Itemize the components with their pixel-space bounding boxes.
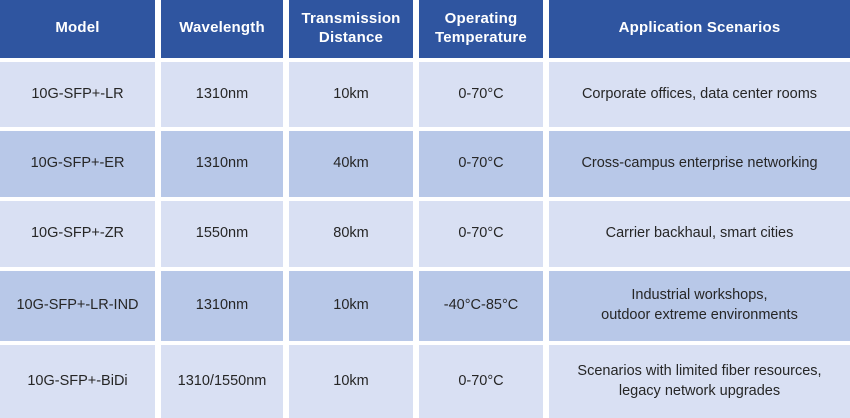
table-row: 10G-SFP+-LR-IND 1310nm 10km -40°C-85°C I… xyxy=(0,271,850,342)
cell-value: 0-70°C xyxy=(425,224,537,244)
cell-value: Carrier backhaul, smart cities xyxy=(555,224,844,244)
cell-application-scenarios: Scenarios with limited fiber resources, … xyxy=(549,345,850,418)
cell-application-scenarios: Industrial workshops, outdoor extreme en… xyxy=(549,271,850,342)
cell-transmission-distance: 10km xyxy=(289,271,413,342)
cell-wavelength: 1310nm xyxy=(161,62,283,128)
cell-value: 10G-SFP+-ER xyxy=(6,154,149,174)
cell-value: 10km xyxy=(295,296,407,316)
cell-value: 1310nm xyxy=(167,85,277,105)
column-header-wavelength: Wavelength xyxy=(161,0,283,58)
table-row: 10G-SFP+-ZR 1550nm 80km 0-70°C Carrier b… xyxy=(0,201,850,267)
cell-wavelength: 1310/1550nm xyxy=(161,345,283,418)
cell-value: 10G-SFP+-ZR xyxy=(6,224,149,244)
cell-value: 1310/1550nm xyxy=(167,372,277,392)
cell-operating-temperature: 0-70°C xyxy=(419,131,543,197)
cell-operating-temperature: 0-70°C xyxy=(419,62,543,128)
column-header-label: Model xyxy=(6,19,149,38)
cell-value: Corporate offices, data center rooms xyxy=(555,85,844,105)
table-row: 10G-SFP+-ER 1310nm 40km 0-70°C Cross-cam… xyxy=(0,131,850,197)
cell-operating-temperature: 0-70°C xyxy=(419,345,543,418)
cell-application-scenarios: Cross-campus enterprise networking xyxy=(549,131,850,197)
column-header-label: Wavelength xyxy=(167,19,277,38)
cell-value: 10G-SFP+-BiDi xyxy=(6,372,149,392)
cell-transmission-distance: 10km xyxy=(289,345,413,418)
cell-model: 10G-SFP+-ER xyxy=(0,131,155,197)
cell-value: 80km xyxy=(295,224,407,244)
table-header-row: Model Wavelength Transmission Distance O… xyxy=(0,0,850,58)
column-header-label: Operating Temperature xyxy=(425,10,537,48)
cell-value: 10km xyxy=(295,85,407,105)
cell-operating-temperature: 0-70°C xyxy=(419,201,543,267)
column-header-operating-temperature: Operating Temperature xyxy=(419,0,543,58)
cell-model: 10G-SFP+-LR xyxy=(0,62,155,128)
cell-model: 10G-SFP+-BiDi xyxy=(0,345,155,418)
cell-value: -40°C-85°C xyxy=(425,296,537,316)
cell-transmission-distance: 40km xyxy=(289,131,413,197)
cell-value: 10km xyxy=(295,372,407,392)
cell-value: Industrial workshops, outdoor extreme en… xyxy=(555,286,844,325)
cell-application-scenarios: Carrier backhaul, smart cities xyxy=(549,201,850,267)
cell-transmission-distance: 80km xyxy=(289,201,413,267)
cell-value: 0-70°C xyxy=(425,154,537,174)
cell-wavelength: 1310nm xyxy=(161,131,283,197)
cell-value: 0-70°C xyxy=(425,372,537,392)
column-header-model: Model xyxy=(0,0,155,58)
cell-wavelength: 1310nm xyxy=(161,271,283,342)
cell-value: 1310nm xyxy=(167,296,277,316)
cell-model: 10G-SFP+-ZR xyxy=(0,201,155,267)
cell-value: 0-70°C xyxy=(425,85,537,105)
cell-value: 40km xyxy=(295,154,407,174)
cell-value: 10G-SFP+-LR-IND xyxy=(6,296,149,316)
cell-value: Scenarios with limited fiber resources, … xyxy=(555,362,844,401)
cell-transmission-distance: 10km xyxy=(289,62,413,128)
cell-application-scenarios: Corporate offices, data center rooms xyxy=(549,62,850,128)
specification-table: Model Wavelength Transmission Distance O… xyxy=(0,0,850,418)
cell-value: 1310nm xyxy=(167,154,277,174)
column-header-label: Application Scenarios xyxy=(555,19,844,38)
column-header-transmission-distance: Transmission Distance xyxy=(289,0,413,58)
column-header-application-scenarios: Application Scenarios xyxy=(549,0,850,58)
cell-wavelength: 1550nm xyxy=(161,201,283,267)
cell-value: 1550nm xyxy=(167,224,277,244)
table-row: 10G-SFP+-BiDi 1310/1550nm 10km 0-70°C Sc… xyxy=(0,345,850,418)
cell-operating-temperature: -40°C-85°C xyxy=(419,271,543,342)
column-header-label: Transmission Distance xyxy=(295,10,407,48)
cell-value: Cross-campus enterprise networking xyxy=(555,154,844,174)
cell-model: 10G-SFP+-LR-IND xyxy=(0,271,155,342)
table-row: 10G-SFP+-LR 1310nm 10km 0-70°C Corporate… xyxy=(0,62,850,128)
cell-value: 10G-SFP+-LR xyxy=(6,85,149,105)
